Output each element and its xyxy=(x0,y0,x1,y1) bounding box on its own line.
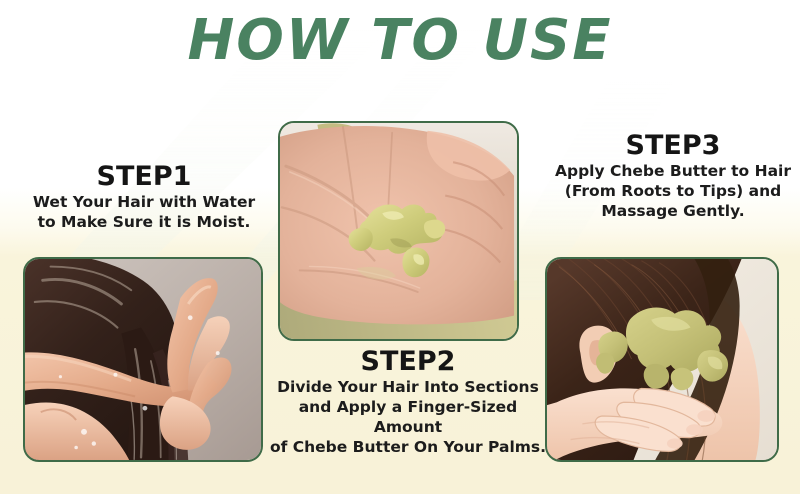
how-to-use-poster: HOW TO USE STEP1 Wet Your Hair with Wate… xyxy=(0,0,800,494)
page-title: HOW TO USE xyxy=(0,8,800,73)
step-2-label: STEP2 xyxy=(268,348,548,376)
step-3-label: STEP3 xyxy=(548,132,798,160)
step-1-label: STEP1 xyxy=(2,163,286,191)
step-1-photo xyxy=(23,257,263,462)
step-1-description: Wet Your Hair with Water to Make Sure it… xyxy=(2,193,286,233)
step-1-text-block: STEP1 Wet Your Hair with Water to Make S… xyxy=(2,163,286,233)
step-3-photo xyxy=(545,257,779,462)
step-3-text-block: STEP3 Apply Chebe Butter to Hair (From R… xyxy=(548,132,798,222)
step-2-text-block: STEP2 Divide Your Hair Into Sections and… xyxy=(268,348,548,458)
step-2-photo xyxy=(278,121,519,341)
step-3-description: Apply Chebe Butter to Hair (From Roots t… xyxy=(548,162,798,221)
step-2-description: Divide Your Hair Into Sections and Apply… xyxy=(268,378,548,457)
